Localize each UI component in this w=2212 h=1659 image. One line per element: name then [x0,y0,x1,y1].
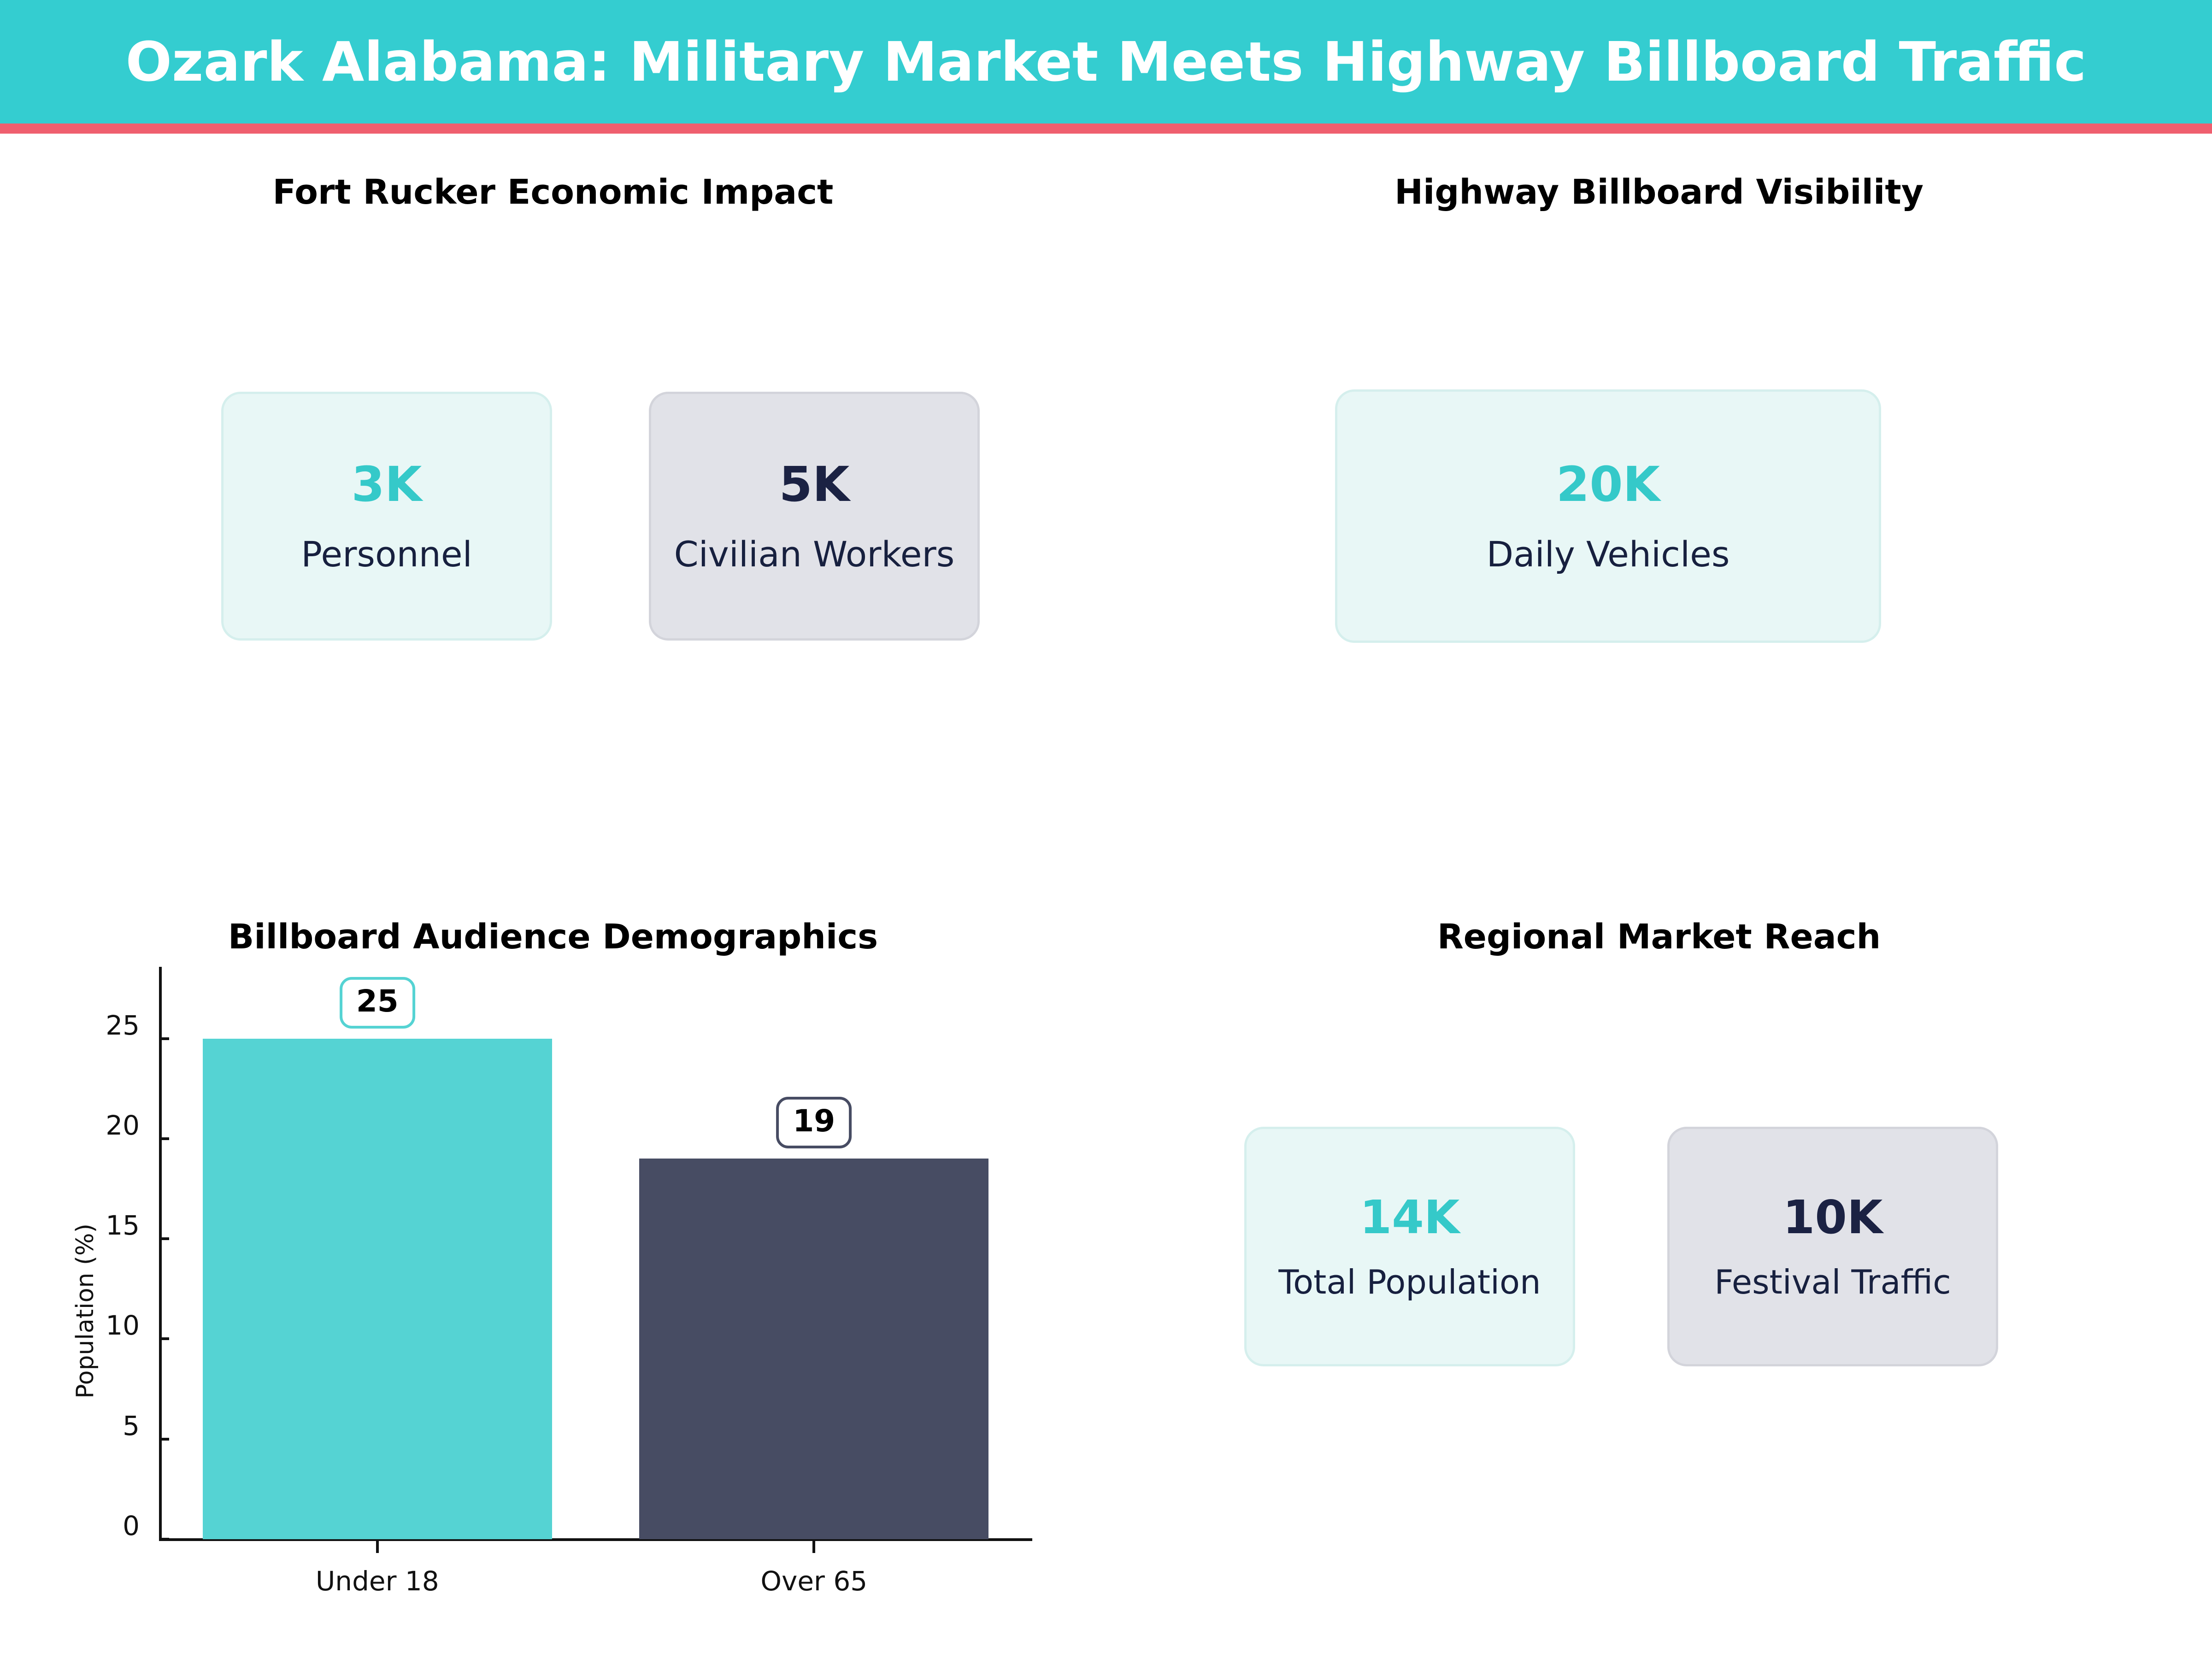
bar-chart: Population (%) 051015202525Under 1819Ove… [0,917,1106,1659]
panel-title-top-left: Fort Rucker Economic Impact [0,172,1106,212]
chart-y-tick-label: 25 [106,1012,159,1039]
chart-y-tick-label: 0 [123,1512,159,1539]
chart-y-tick-label: 20 [106,1112,159,1139]
kpi-value-personnel: 3K [352,460,422,508]
page-header: Ozark Alabama: Military Market Meets Hig… [0,0,2212,124]
header-accent-rule [0,124,2212,134]
kpi-card-group-top-left: 3K Personnel 5K Civilian Workers [221,392,980,641]
kpi-value-total-population: 14K [1360,1194,1460,1241]
chart-x-tick-label: Over 65 [760,1568,867,1594]
chart-y-tick-mark [159,1237,169,1240]
page-title: Ozark Alabama: Military Market Meets Hig… [126,30,2087,94]
dashboard-page: Ozark Alabama: Military Market Meets Hig… [0,0,2212,1659]
kpi-card-daily-vehicles[interactable]: 20K Daily Vehicles [1335,389,1881,643]
kpi-card-festival-traffic[interactable]: 10K Festival Traffic [1667,1127,1998,1366]
panel-fort-rucker-economic-impact: Fort Rucker Economic Impact 3K Personnel… [0,134,1106,917]
chart-y-tick-mark [159,1438,169,1441]
kpi-card-civilian-workers[interactable]: 5K Civilian Workers [649,392,980,641]
kpi-label-daily-vehicles: Daily Vehicles [1487,537,1730,572]
panel-highway-billboard-visibility: Highway Billboard Visibility 20K Daily V… [1106,134,2212,917]
kpi-label-festival-traffic: Festival Traffic [1714,1265,1951,1299]
chart-bar-value-label: 19 [776,1097,852,1148]
panel-title-top-right: Highway Billboard Visibility [1106,172,2212,212]
panel-regional-market-reach: Regional Market Reach 14K Total Populati… [1106,917,2212,1659]
chart-x-tick-mark [376,1539,379,1553]
chart-bar[interactable] [639,1159,988,1539]
chart-y-tick-mark [159,1337,169,1340]
kpi-card-group-top-right: 20K Daily Vehicles [1335,389,1881,643]
chart-y-tick-mark [159,1538,169,1541]
kpi-label-civilian-workers: Civilian Workers [674,537,955,572]
chart-bar-value-label: 25 [340,977,415,1029]
chart-y-tick-mark [159,1137,169,1140]
kpi-value-civilian-workers: 5K [779,460,850,508]
kpi-value-daily-vehicles: 20K [1556,460,1660,508]
chart-x-tick-mark [812,1539,815,1553]
panel-billboard-audience-demographics: Billboard Audience Demographics Populati… [0,917,1106,1659]
chart-y-tick-label: 5 [123,1412,159,1439]
chart-y-tick-label: 10 [106,1312,159,1339]
panel-title-bottom-right: Regional Market Reach [1106,917,2212,957]
kpi-label-total-population: Total Population [1278,1265,1541,1299]
kpi-card-total-population[interactable]: 14K Total Population [1244,1127,1575,1366]
chart-bar[interactable] [203,1039,552,1539]
chart-plot-area: 051015202525Under 1819Over 65 [159,988,1032,1539]
chart-y-tick-label: 15 [106,1212,159,1239]
kpi-value-festival-traffic: 10K [1783,1194,1883,1241]
chart-y-axis-label: Population (%) [71,1224,99,1399]
chart-x-tick-label: Under 18 [316,1568,439,1594]
kpi-label-personnel: Personnel [301,537,472,572]
chart-y-tick-mark [159,1037,169,1040]
kpi-card-personnel[interactable]: 3K Personnel [221,392,552,641]
kpi-card-group-bottom-right: 14K Total Population 10K Festival Traffi… [1244,1127,1998,1366]
